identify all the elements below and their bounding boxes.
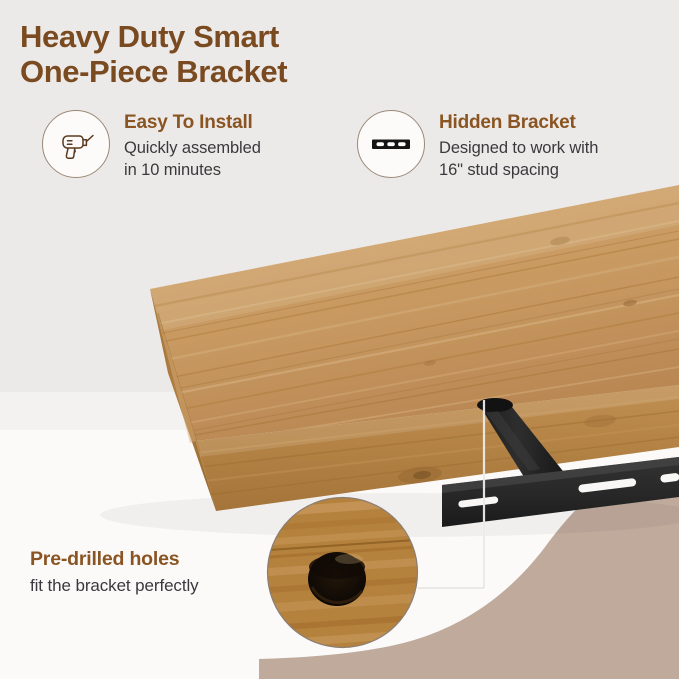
feature-hidden-bracket-text: Hidden Bracket Designed to work with 16"…: [439, 110, 598, 182]
page-title-line-1: Heavy Duty Smart: [20, 19, 440, 54]
feature-easy-to-install: Easy To Install Quickly assembled in 10 …: [42, 110, 261, 182]
bracket-bar-icon: [357, 110, 425, 178]
feature-hidden-bracket-title: Hidden Bracket: [439, 112, 598, 135]
feature-hidden-bracket: Hidden Bracket Designed to work with 16"…: [357, 110, 598, 182]
feature-easy-to-install-body: Quickly assembled in 10 minutes: [124, 138, 261, 182]
caption-title: Pre-drilled holes: [30, 548, 270, 571]
caption-body: fit the bracket perfectly: [30, 575, 270, 597]
drill-icon: [42, 110, 110, 178]
page-title-line-2: One-Piece Bracket: [20, 54, 440, 89]
pre-drilled-hole-magnifier: [265, 495, 420, 650]
product-feature-graphic: Heavy Duty Smart One-Piece Bracket: [0, 0, 679, 679]
feature-body-line-1: Quickly assembled: [124, 138, 261, 160]
feature-hidden-bracket-body: Designed to work with 16" stud spacing: [439, 138, 598, 182]
feature-easy-to-install-title: Easy To Install: [124, 112, 261, 135]
feature-body-line-2: in 10 minutes: [124, 160, 261, 182]
feature-easy-to-install-text: Easy To Install Quickly assembled in 10 …: [124, 110, 261, 182]
page-title: Heavy Duty Smart One-Piece Bracket: [20, 19, 440, 90]
feature-body-line-2: 16" stud spacing: [439, 160, 598, 182]
pre-drilled-holes-caption: Pre-drilled holes fit the bracket perfec…: [30, 548, 270, 597]
feature-body-line-1: Designed to work with: [439, 138, 598, 160]
